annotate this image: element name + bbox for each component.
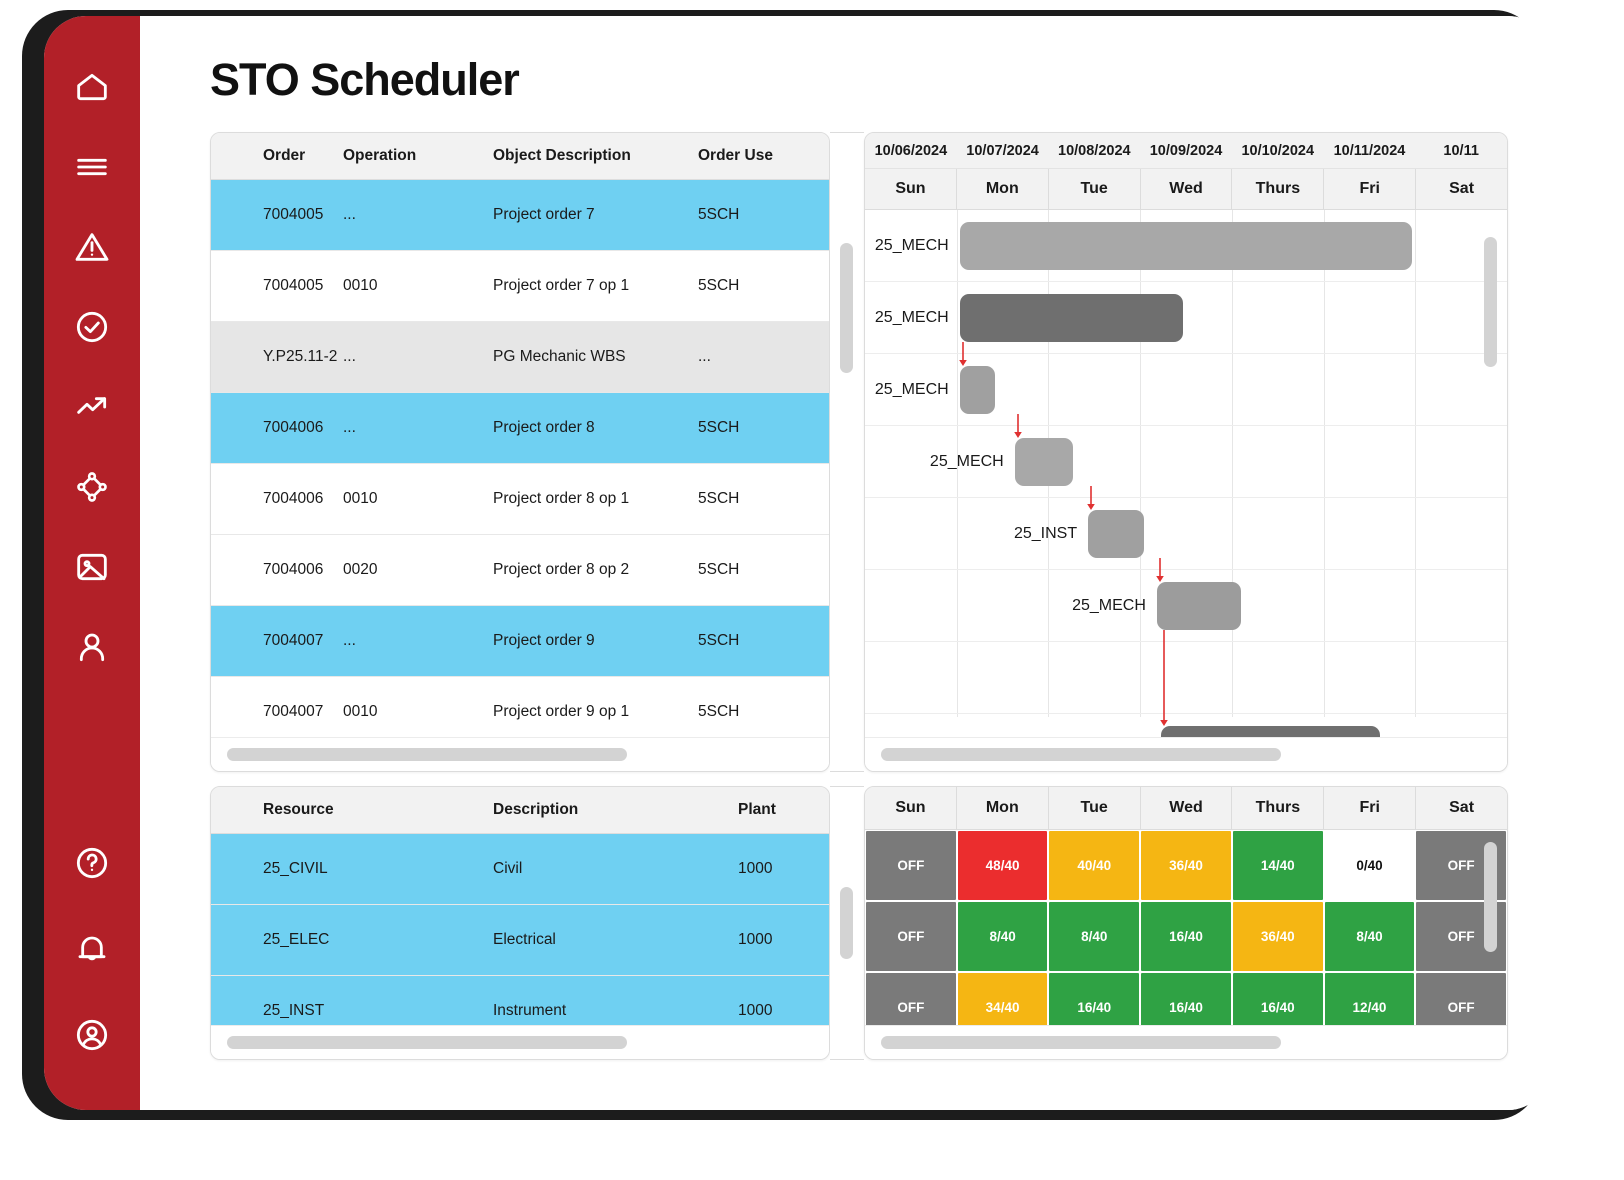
capacity-row: OFF8/408/4016/4036/408/40OFF bbox=[865, 901, 1507, 972]
gantt-body: 25_MECH25_MECH25_MECH25_MECH25_INST25_ME… bbox=[865, 210, 1507, 717]
sidebar-item-account[interactable] bbox=[69, 1012, 115, 1058]
description-cell: Project order 8 op 1 bbox=[493, 464, 698, 535]
capacity-cell[interactable]: 0/40 bbox=[1325, 831, 1415, 900]
table-row[interactable]: 7004006...Project order 85SCH bbox=[211, 393, 829, 464]
resources-vscroll-thumb[interactable] bbox=[840, 887, 853, 959]
capacity-cell[interactable]: 8/40 bbox=[1325, 902, 1415, 971]
gantt-date-label: 10/06/2024 bbox=[865, 133, 957, 168]
table-row[interactable]: 7004005...Project order 75SCH bbox=[211, 180, 829, 251]
order-use-cell: 5SCH bbox=[698, 464, 829, 535]
gantt-date-label: 10/08/2024 bbox=[1048, 133, 1140, 168]
table-row[interactable]: 25_CIVILCivil1000 bbox=[211, 834, 829, 905]
table-row[interactable]: 70040060020Project order 8 op 25SCH bbox=[211, 535, 829, 606]
resource-description-cell: Civil bbox=[493, 834, 738, 905]
main-content: STO Scheduler Order Operation Object Des… bbox=[140, 16, 1550, 1110]
column-header-order-use[interactable]: Order Use bbox=[698, 133, 829, 180]
network-nodes-icon bbox=[72, 467, 112, 507]
capacity-cell[interactable]: 40/40 bbox=[1049, 831, 1139, 900]
image-icon bbox=[72, 547, 112, 587]
capacity-cell[interactable]: 16/40 bbox=[1141, 902, 1231, 971]
description-cell: PG Mechanic WBS bbox=[493, 322, 698, 393]
resources-vertical-scrollbar[interactable] bbox=[830, 786, 864, 1060]
order-use-cell: 5SCH bbox=[698, 251, 829, 322]
column-header-order[interactable]: Order bbox=[211, 133, 343, 180]
capacity-day-label: Sun bbox=[865, 787, 956, 830]
capacity-panel: SunMonTueWedThursFriSat OFF48/4040/4036/… bbox=[864, 786, 1508, 1060]
capacity-day-label: Mon bbox=[956, 787, 1048, 830]
sidebar-item-analytics[interactable] bbox=[69, 384, 115, 430]
home-icon bbox=[72, 67, 112, 107]
sidebar-bottom-group bbox=[69, 840, 115, 1058]
sidebar bbox=[44, 16, 140, 1110]
gantt-day-label: Wed bbox=[1140, 169, 1232, 210]
capacity-day-label: Fri bbox=[1323, 787, 1415, 830]
order-use-cell: ... bbox=[698, 322, 829, 393]
orders-table-header-row: Order Operation Object Description Order… bbox=[211, 133, 829, 180]
orders-vscroll-thumb[interactable] bbox=[840, 243, 853, 373]
sidebar-item-home[interactable] bbox=[69, 64, 115, 110]
operation-cell: 0020 bbox=[343, 535, 493, 606]
gantt-bar-label: 25_MECH bbox=[865, 309, 949, 327]
gantt-hscroll-thumb[interactable] bbox=[881, 748, 1281, 761]
device-frame: STO Scheduler Order Operation Object Des… bbox=[22, 10, 1540, 1120]
gantt-day-label: Fri bbox=[1323, 169, 1415, 210]
description-cell: Project order 7 bbox=[493, 180, 698, 251]
resources-table-header-row: Resource Description Plant bbox=[211, 787, 829, 834]
order-use-cell: 5SCH bbox=[698, 535, 829, 606]
gantt-vertical-scrollbar[interactable] bbox=[1474, 212, 1508, 772]
sidebar-item-help[interactable] bbox=[69, 840, 115, 886]
gantt-day-header: SunMonTueWedThursFriSat bbox=[865, 169, 1507, 210]
gantt-row bbox=[865, 642, 1507, 714]
table-row[interactable]: 70040050010Project order 7 op 15SCH bbox=[211, 251, 829, 322]
gantt-day-label: Tue bbox=[1048, 169, 1140, 210]
column-header-rdescription[interactable]: Description bbox=[493, 787, 738, 834]
table-row[interactable]: 70040060010Project order 8 op 15SCH bbox=[211, 464, 829, 535]
gantt-panel: 10/06/202410/07/202410/08/202410/09/2024… bbox=[864, 132, 1508, 772]
device-screen: STO Scheduler Order Operation Object Des… bbox=[44, 16, 1550, 1110]
capacity-vscroll-thumb[interactable] bbox=[1484, 842, 1497, 952]
capacity-cell[interactable]: 8/40 bbox=[958, 902, 1048, 971]
sidebar-item-notifications[interactable] bbox=[69, 926, 115, 972]
description-cell: Project order 8 op 2 bbox=[493, 535, 698, 606]
orders-vertical-scrollbar[interactable] bbox=[830, 132, 864, 772]
plant-cell: 1000 bbox=[738, 905, 829, 976]
capacity-cell[interactable]: OFF bbox=[866, 902, 956, 971]
order-use-cell: 5SCH bbox=[698, 180, 829, 251]
gantt-date-label: 10/10/2024 bbox=[1232, 133, 1324, 168]
column-header-resource[interactable]: Resource bbox=[211, 787, 493, 834]
operation-cell: ... bbox=[343, 606, 493, 677]
column-header-description[interactable]: Object Description bbox=[493, 133, 698, 180]
operation-cell: 0010 bbox=[343, 251, 493, 322]
gantt-date-label: 10/07/2024 bbox=[957, 133, 1049, 168]
resource-cell: 25_ELEC bbox=[211, 905, 493, 976]
gantt-day-label: Mon bbox=[956, 169, 1048, 210]
page-title: STO Scheduler bbox=[210, 54, 1508, 106]
gantt-bar-label: 25_INST bbox=[865, 525, 1077, 543]
operation-cell: ... bbox=[343, 393, 493, 464]
gantt-day-label: Thurs bbox=[1231, 169, 1323, 210]
operation-cell: ... bbox=[343, 322, 493, 393]
sidebar-item-media[interactable] bbox=[69, 544, 115, 590]
gantt-dependency-arrow-icon bbox=[1084, 486, 1098, 510]
capacity-cell[interactable]: OFF bbox=[866, 831, 956, 900]
capacity-day-label: Wed bbox=[1140, 787, 1232, 830]
gantt-bar[interactable] bbox=[1157, 582, 1241, 630]
resource-description-cell: Electrical bbox=[493, 905, 738, 976]
gantt-dependency-arrow-icon bbox=[1153, 558, 1167, 582]
help-circle-icon bbox=[72, 843, 112, 883]
gantt-bar-label: 25_MECH bbox=[865, 237, 949, 255]
resources-panel: Resource Description Plant 25_CIVILCivil… bbox=[210, 786, 830, 1060]
gantt-bar-label: 25_MECH bbox=[865, 597, 1146, 615]
column-header-operation[interactable]: Operation bbox=[343, 133, 493, 180]
operation-cell: 0010 bbox=[343, 464, 493, 535]
capacity-vertical-scrollbar[interactable] bbox=[1474, 832, 1508, 1060]
capacity-cell[interactable]: 8/40 bbox=[1049, 902, 1139, 971]
gantt-bar[interactable] bbox=[1015, 438, 1073, 486]
resources-table: Resource Description Plant 25_CIVILCivil… bbox=[211, 787, 829, 1047]
resource-cell: 25_CIVIL bbox=[211, 834, 493, 905]
gantt-day-label: Sun bbox=[865, 169, 956, 210]
capacity-row: OFF48/4040/4036/4014/400/40OFF bbox=[865, 830, 1507, 901]
orders-horizontal-scrollbar[interactable] bbox=[211, 737, 829, 771]
orders-hscroll-thumb[interactable] bbox=[227, 748, 627, 761]
gantt-dependency-arrow-icon bbox=[1157, 630, 1171, 726]
gantt-date-label: 10/09/2024 bbox=[1140, 133, 1232, 168]
capacity-day-label: Thurs bbox=[1231, 787, 1323, 830]
table-row[interactable]: 7004007...Project order 95SCH bbox=[211, 606, 829, 677]
gantt-vscroll-thumb[interactable] bbox=[1484, 237, 1497, 367]
order-cell: Y.P25.11-2 bbox=[211, 322, 343, 393]
capacity-day-label: Sat bbox=[1415, 787, 1507, 830]
check-circle-icon bbox=[72, 307, 112, 347]
gantt-day-label: Sat bbox=[1415, 169, 1507, 210]
gantt-dependency-arrow-icon bbox=[1011, 414, 1025, 438]
sidebar-item-profile[interactable] bbox=[69, 624, 115, 670]
gantt-bar[interactable] bbox=[960, 222, 1413, 270]
menu-icon bbox=[72, 147, 112, 187]
resources-horizontal-scrollbar[interactable] bbox=[211, 1025, 829, 1059]
account-circle-icon bbox=[72, 1015, 112, 1055]
plant-cell: 1000 bbox=[738, 834, 829, 905]
capacity-hscroll-thumb[interactable] bbox=[881, 1036, 1281, 1049]
sidebar-item-network[interactable] bbox=[69, 464, 115, 510]
column-header-plant[interactable]: Plant bbox=[738, 787, 829, 834]
capacity-cell[interactable]: 36/40 bbox=[1141, 831, 1231, 900]
orders-table: Order Operation Object Description Order… bbox=[211, 133, 829, 748]
warning-icon bbox=[72, 227, 112, 267]
gantt-bar[interactable] bbox=[960, 366, 995, 414]
gantt-bar[interactable] bbox=[960, 294, 1183, 342]
order-cell: 7004005 bbox=[211, 180, 343, 251]
sidebar-item-menu[interactable] bbox=[69, 144, 115, 190]
order-cell: 7004006 bbox=[211, 393, 343, 464]
operation-cell: ... bbox=[343, 180, 493, 251]
table-row[interactable]: Y.P25.11-2...PG Mechanic WBS... bbox=[211, 322, 829, 393]
order-cell: 7004005 bbox=[211, 251, 343, 322]
gantt-dependency-arrow-icon bbox=[956, 342, 970, 366]
description-cell: Project order 7 op 1 bbox=[493, 251, 698, 322]
resources-hscroll-thumb[interactable] bbox=[227, 1036, 627, 1049]
order-cell: 7004006 bbox=[211, 535, 343, 606]
user-icon bbox=[72, 627, 112, 667]
description-cell: Project order 8 bbox=[493, 393, 698, 464]
order-cell: 7004007 bbox=[211, 606, 343, 677]
order-cell: 7004006 bbox=[211, 464, 343, 535]
gantt-bar[interactable] bbox=[1088, 510, 1144, 558]
gantt-date-label: 10/11/2024 bbox=[1324, 133, 1416, 168]
trending-up-icon bbox=[72, 387, 112, 427]
order-use-cell: 5SCH bbox=[698, 393, 829, 464]
capacity-day-header: SunMonTueWedThursFriSat bbox=[865, 787, 1507, 830]
table-row[interactable]: 25_ELECElectrical1000 bbox=[211, 905, 829, 976]
sidebar-top-group bbox=[69, 64, 115, 670]
gantt-horizontal-scrollbar[interactable] bbox=[865, 737, 1507, 771]
capacity-cell[interactable]: 36/40 bbox=[1233, 902, 1323, 971]
sidebar-item-alerts[interactable] bbox=[69, 224, 115, 270]
sidebar-item-approvals[interactable] bbox=[69, 304, 115, 350]
capacity-grid: OFF48/4040/4036/4014/400/40OFFOFF8/408/4… bbox=[865, 830, 1507, 1043]
order-use-cell: 5SCH bbox=[698, 606, 829, 677]
capacity-cell[interactable]: 14/40 bbox=[1233, 831, 1323, 900]
capacity-cell[interactable]: 48/40 bbox=[958, 831, 1048, 900]
capacity-day-label: Tue bbox=[1048, 787, 1140, 830]
orders-panel: Order Operation Object Description Order… bbox=[210, 132, 830, 772]
capacity-horizontal-scrollbar[interactable] bbox=[865, 1025, 1507, 1059]
gantt-bar-label: 25_MECH bbox=[865, 453, 1004, 471]
gantt-bar-label: 25_MECH bbox=[865, 381, 949, 399]
bell-icon bbox=[72, 929, 112, 969]
gantt-date-label: 10/11 bbox=[1415, 133, 1507, 168]
description-cell: Project order 9 bbox=[493, 606, 698, 677]
gantt-date-header: 10/06/202410/07/202410/08/202410/09/2024… bbox=[865, 133, 1507, 169]
